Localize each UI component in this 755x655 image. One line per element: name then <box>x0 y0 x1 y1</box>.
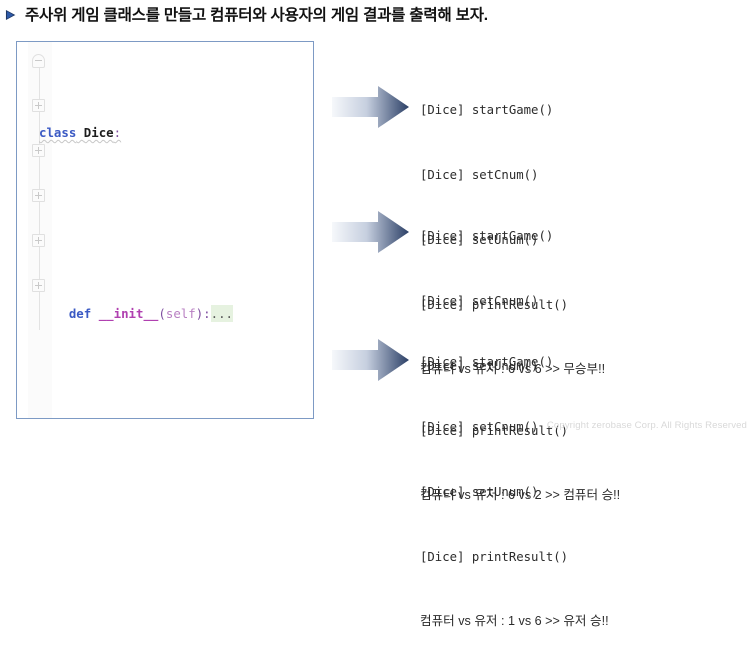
output-result-line: 컴퓨터 vs 유저 : 1 vs 6 >> 유저 승!! <box>420 611 609 633</box>
code-space <box>76 125 83 140</box>
triangle-bullet-icon <box>4 8 18 22</box>
code-class-name: Dice <box>84 125 114 140</box>
code-colon: : <box>203 306 210 321</box>
right-arrow-icon-2 <box>332 209 410 255</box>
code-content[interactable]: class Dice: def __init__(self):... def s… <box>39 54 255 419</box>
copyright-footer: Copyright zerobase Corp. All Rights Rese… <box>547 420 747 431</box>
code-blank-line <box>39 370 255 393</box>
code-line-class[interactable]: class Dice: <box>39 122 255 145</box>
code-colon: : <box>114 125 121 140</box>
output-line: [Dice] startGame() <box>420 100 605 122</box>
code-line-init[interactable]: def __init__(self):... <box>39 303 255 326</box>
page-title: 주사위 게임 클래스를 만들고 컴퓨터와 사용자의 게임 결과를 출력해 보자. <box>4 3 488 25</box>
output-block-3: [Dice] startGame() [Dice] setCnum() [Dic… <box>420 309 609 655</box>
code-arg-self: self <box>166 306 196 321</box>
code-paren-open: ( <box>158 306 165 321</box>
output-line: [Dice] setUnum() <box>420 482 609 504</box>
code-keyword-def: def <box>69 306 91 321</box>
right-arrow-icon-3 <box>332 337 410 383</box>
output-line: [Dice] startGame() <box>420 226 620 248</box>
code-blank-line <box>39 190 255 213</box>
code-method-name: __init__ <box>99 306 159 321</box>
output-line: [Dice] startGame() <box>420 352 609 374</box>
right-arrow-icon-1 <box>332 84 410 130</box>
code-editor-panel[interactable]: class Dice: def __init__(self):... def s… <box>16 41 314 419</box>
output-line: [Dice] printResult() <box>420 547 609 569</box>
code-collapsed-body[interactable]: ... <box>211 305 233 322</box>
page-title-text: 주사위 게임 클래스를 만들고 컴퓨터와 사용자의 게임 결과를 출력해 보자. <box>25 3 488 25</box>
code-keyword-class: class <box>39 125 76 140</box>
